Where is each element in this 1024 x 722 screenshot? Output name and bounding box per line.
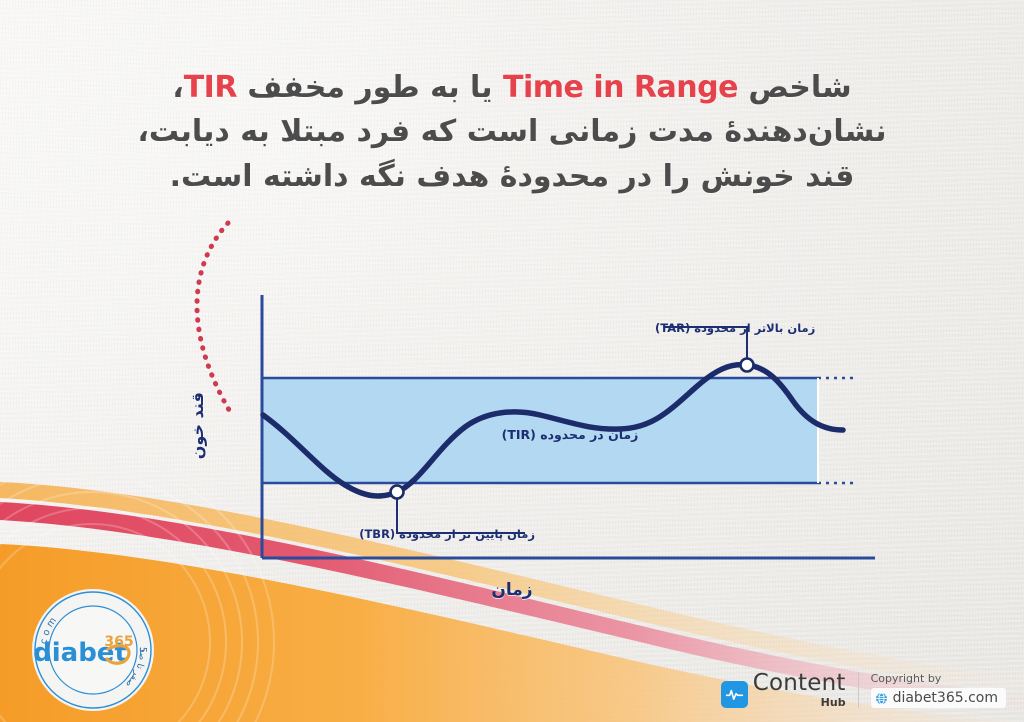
globe-icon <box>875 692 888 705</box>
headline-accent-tir: TIR <box>184 66 237 110</box>
tir-annotation-label: زمان در محدوده (TIR) <box>502 427 639 442</box>
tar-annotation-label: زمان بالاتر از محدوده (TAR) <box>655 321 815 336</box>
headline-line-3: قند خونش را در محدودهٔ هدف نگه داشته است… <box>60 155 964 199</box>
copyright-label: Copyright by <box>871 672 1006 685</box>
headline-accent-time-in-range: Time in Range <box>503 66 738 110</box>
pulse-icon <box>721 681 748 708</box>
y-axis-label: قند خون <box>189 392 207 422</box>
content-hub-sub: Hub <box>821 697 846 708</box>
content-hub-word: Content <box>753 672 846 695</box>
footer-divider <box>858 672 859 708</box>
footer-branding: Content Hub Copyright by diabet365.com <box>721 672 1006 708</box>
headline-seg: شاخص <box>738 70 852 105</box>
chart-svg: زمان بالاتر از محدوده (TAR) زمان در محدو… <box>175 270 895 615</box>
page-title: شاخص Time in Range یا به طور مخفف TIR، ن… <box>60 66 964 199</box>
copyright-block: Copyright by diabet365.com <box>871 672 1006 708</box>
peak-marker <box>741 359 754 372</box>
headline-line-2: نشان‌دهندهٔ مدت زمانی است که فرد مبتلا ب… <box>60 110 964 154</box>
infographic-canvas: شاخص Time in Range یا به طور مخفف TIR، ن… <box>0 0 1024 722</box>
headline-line-1: شاخص Time in Range یا به طور مخفف TIR، <box>60 66 964 110</box>
tir-chart: زمان بالاتر از محدوده (TAR) زمان در محدو… <box>175 270 895 615</box>
copyright-domain-text: diabet365.com <box>893 690 998 706</box>
trough-marker <box>391 486 404 499</box>
logo-badge[interactable]: diabet365.com صفر تا صد دیابت با دیابت 3… <box>28 585 158 715</box>
tbr-annotation-label: زمان پایین تر از محدوده (TBR) <box>359 527 535 542</box>
copyright-domain-chip[interactable]: diabet365.com <box>871 688 1006 708</box>
content-hub-logo[interactable]: Content Hub <box>721 672 846 708</box>
headline-seg: ، <box>172 70 183 105</box>
headline-seg: یا به طور مخفف <box>237 70 503 105</box>
